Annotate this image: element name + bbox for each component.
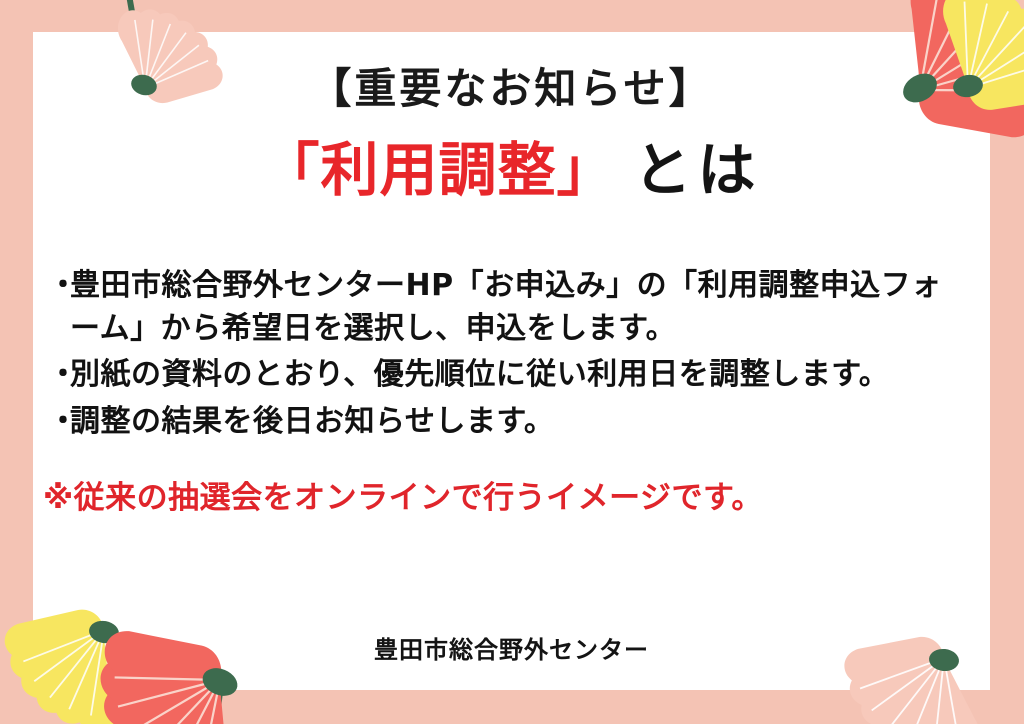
page-title: 「利用調整」とは bbox=[33, 134, 990, 207]
list-item: ・ 別紙の資料のとおり、優先順位に従い利用日を調整します。 bbox=[48, 354, 978, 397]
kicker-text: 【重要なお知らせ】 bbox=[33, 64, 990, 114]
list-item-text: 調整の結果を後日お知らせします。 bbox=[70, 401, 978, 444]
footer-organization: 豊田市総合野外センター bbox=[33, 630, 990, 665]
list-item-text: 別紙の資料のとおり、優先順位に従い利用日を調整します。 bbox=[70, 354, 978, 397]
bullet-marker-icon: ・ bbox=[48, 401, 70, 444]
bullet-marker-icon: ・ bbox=[48, 354, 70, 397]
list-item: ・ 調整の結果を後日お知らせします。 bbox=[48, 401, 978, 444]
poster-content: 【重要なお知らせ】 「利用調整」とは ・ 豊田市総合野外センターHP「お申込み」… bbox=[33, 32, 990, 690]
list-item-text: 豊田市総合野外センターHP「お申込み」の「利用調整申込フォ ーム」から希望日を選… bbox=[70, 265, 978, 350]
headline-block: 【重要なお知らせ】 「利用調整」とは bbox=[33, 64, 990, 207]
list-item: ・ 豊田市総合野外センターHP「お申込み」の「利用調整申込フォ ーム」から希望日… bbox=[48, 265, 978, 350]
page-title-suffix: とは bbox=[634, 136, 762, 204]
poster-canvas: 【重要なお知らせ】 「利用調整」とは ・ 豊田市総合野外センターHP「お申込み」… bbox=[0, 0, 1024, 724]
note-text: ※従来の抽選会をオンラインで行うイメージです。 bbox=[43, 472, 763, 517]
bullet-marker-icon: ・ bbox=[48, 265, 70, 308]
page-title-highlight: 「利用調整」 bbox=[261, 136, 615, 204]
bullet-list: ・ 豊田市総合野外センターHP「お申込み」の「利用調整申込フォ ーム」から希望日… bbox=[48, 265, 978, 447]
